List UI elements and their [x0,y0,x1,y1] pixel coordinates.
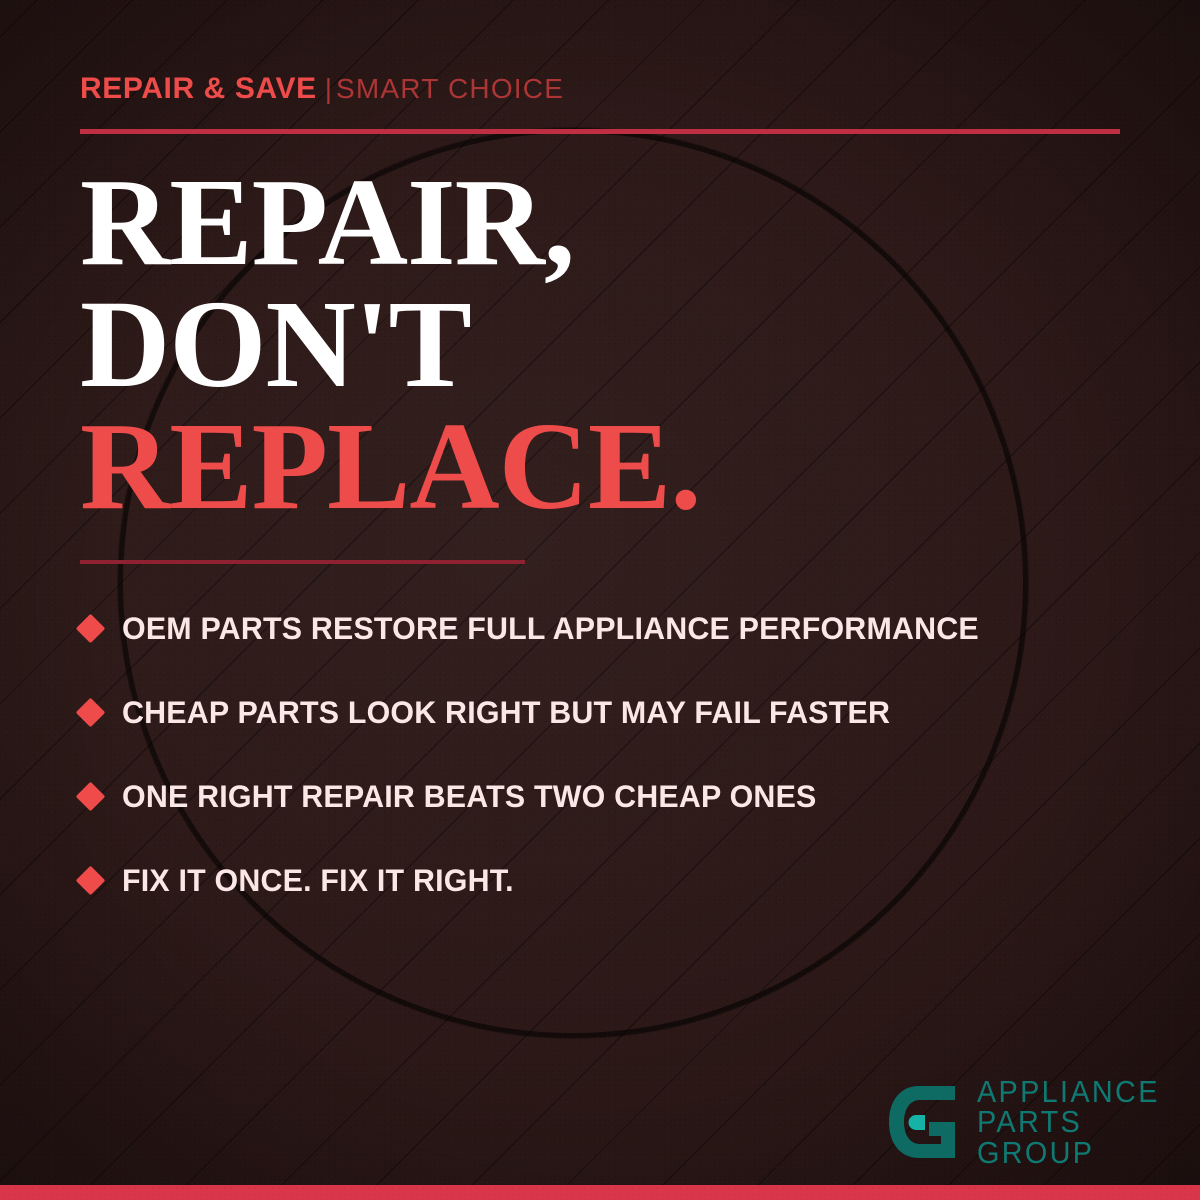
g-monogram-icon [885,1082,963,1162]
list-item-label: CHEAP PARTS LOOK RIGHT BUT MAY FAIL FAST… [122,694,890,731]
list-item: FIX IT ONCE. FIX IT RIGHT. [80,838,1150,922]
list-item-label: FIX IT ONCE. FIX IT RIGHT. [122,862,514,899]
top-divider-rule [80,129,1120,134]
list-item-label: OEM PARTS RESTORE FULL APPLIANCE PERFORM… [122,610,979,647]
list-item: ONE RIGHT REPAIR BEATS TWO CHEAP ONES [80,754,1150,838]
logo-line-2: PARTS [977,1107,1160,1137]
poster-canvas: REPAIR & SAVE|SMART CHOICE REPAIR, DON'T… [0,0,1200,1200]
logo-line-1: APPLIANCE [977,1077,1160,1107]
diamond-bullet-icon [76,781,106,811]
list-item-label: ONE RIGHT REPAIR BEATS TWO CHEAP ONES [122,778,817,815]
diamond-bullet-icon [76,613,106,643]
eyebrow-separator: | [325,73,332,104]
bottom-bar-texture [0,1185,1200,1200]
page-title: REPAIR, DON'T REPLACE. [80,163,1140,529]
headline-line-1: REPAIR, [80,163,1140,285]
bottom-accent-bar [0,1185,1200,1200]
logo-line-3: GROUP [977,1138,1160,1168]
brand-logo-wordmark: APPLIANCE PARTS GROUP [977,1077,1174,1168]
benefits-list: OEM PARTS RESTORE FULL APPLIANCE PERFORM… [80,586,1150,922]
diamond-bullet-icon [76,865,106,895]
diamond-bullet-icon [76,697,106,727]
poster-content: REPAIR & SAVE|SMART CHOICE REPAIR, DON'T… [0,0,1200,1200]
list-item: CHEAP PARTS LOOK RIGHT BUT MAY FAIL FAST… [80,670,1150,754]
eyebrow-kicker: REPAIR & SAVE [80,72,317,105]
eyebrow-subtitle: SMART CHOICE [336,73,564,104]
eyebrow: REPAIR & SAVE|SMART CHOICE [80,74,564,104]
list-item: OEM PARTS RESTORE FULL APPLIANCE PERFORM… [80,586,1150,670]
brand-logo: APPLIANCE PARTS GROUP [885,1077,1174,1168]
headline-line-3: REPLACE. [80,407,1140,529]
mid-divider-rule [80,560,525,564]
headline-line-2: DON'T [80,285,1140,407]
